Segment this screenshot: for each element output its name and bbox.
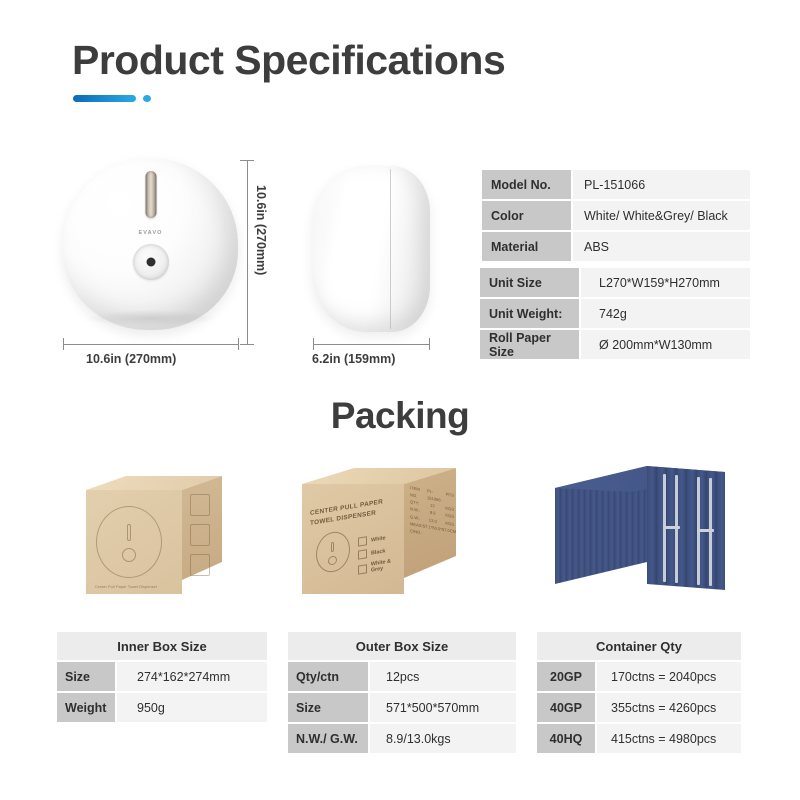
- inner-carton-illustration: Center Pull Paper Towel Dispenser: [86, 472, 228, 600]
- container-body: [555, 466, 725, 584]
- front-width-dim-tick-right: [238, 338, 239, 350]
- row-value-nw-gw: 8.9/13.0kgs: [370, 724, 516, 753]
- table-row: 20GP 170ctns = 2040pcs: [537, 662, 741, 691]
- spec-value-color: White/ White&Grey/ Black: [573, 201, 750, 230]
- front-height-dim-line: [247, 160, 248, 344]
- accent-dot: [143, 95, 151, 102]
- page-title: Product Specifications: [72, 37, 505, 84]
- row-label-size: Size: [57, 662, 115, 691]
- color-option-label: White: [371, 535, 386, 543]
- table-row: Size 274*162*274mm: [57, 662, 267, 691]
- row-label-40hq: 40HQ: [537, 724, 595, 753]
- spec-group-general: Model No. PL-151066 Color White/ White&G…: [482, 170, 750, 261]
- door-lock-bar: [675, 475, 678, 583]
- spec-row-unit-size: Unit Size L270*W159*H270mm: [480, 268, 750, 297]
- side-width-dim-line: [313, 344, 430, 345]
- inner-box-size-header: Inner Box Size: [57, 632, 267, 660]
- outer-carton-illustration: CENTER PULL PAPER TOWEL DISPENSER White …: [302, 460, 460, 600]
- dispenser-slot-icon: [127, 524, 131, 541]
- door-handle-icon: [663, 526, 680, 529]
- carton-symbol-icon-1: [190, 494, 210, 516]
- accent-bar: [73, 95, 136, 102]
- row-value-size: 274*162*274mm: [117, 662, 267, 691]
- front-height-label: 10.6in (270mm): [254, 185, 268, 275]
- inner-box-size-table: Inner Box Size Size 274*162*274mm Weight…: [57, 632, 267, 724]
- carton-symbol-icon-3: [190, 554, 210, 576]
- row-value-qty-per-ctn: 12pcs: [370, 662, 516, 691]
- spec-row-roll-paper-size: Roll Paper Size Ø 200mm*W130mm: [480, 330, 750, 359]
- dispenser-button-icon: [122, 548, 136, 562]
- spec-row-model: Model No. PL-151066: [482, 170, 750, 199]
- front-width-label: 10.6in (270mm): [86, 352, 176, 366]
- carton-symbol-icon-2: [190, 524, 210, 546]
- container-door-panel: [647, 466, 725, 590]
- table-row: 40GP 355ctns = 4260pcs: [537, 693, 741, 722]
- spec-label-roll-paper-size: Roll Paper Size: [480, 330, 579, 359]
- row-label-20gp: 20GP: [537, 662, 595, 691]
- table-row: Qty/ctn 12pcs: [288, 662, 516, 691]
- side-width-dim-tick-right: [429, 338, 430, 350]
- shipping-container-illustration: [543, 452, 741, 610]
- outer-dispenser-slot-icon: [331, 542, 334, 552]
- specification-table: Model No. PL-151066 Color White/ White&G…: [482, 170, 750, 359]
- front-height-dim-tick-top: [240, 160, 254, 161]
- spec-label-unit-size: Unit Size: [480, 268, 579, 297]
- product-side-view: [312, 166, 430, 332]
- side-width-dim-tick-left: [313, 338, 314, 350]
- row-value-size: 571*500*570mm: [370, 693, 516, 722]
- checkbox-icon: [358, 549, 367, 559]
- front-width-dim-tick-left: [63, 338, 64, 350]
- outer-box-size-header: Outer Box Size: [288, 632, 516, 660]
- row-value-weight: 950g: [117, 693, 267, 722]
- spec-row-color: Color White/ White&Grey/ Black: [482, 201, 750, 230]
- dispenser-seam-line: [390, 169, 391, 329]
- spec-row-unit-weight: Unit Weight: 742g: [480, 299, 750, 328]
- color-option-label: White & Grey: [371, 556, 404, 573]
- row-value-40hq: 415ctns = 4980pcs: [597, 724, 741, 753]
- checkbox-icon: [358, 564, 367, 574]
- row-value-20gp: 170ctns = 2040pcs: [597, 662, 741, 691]
- shipping-mark-unit: PCS: [446, 490, 454, 506]
- spec-value-material: ABS: [573, 232, 750, 261]
- row-value-40gp: 355ctns = 4260pcs: [597, 693, 741, 722]
- front-width-dim-line: [63, 344, 239, 345]
- outer-carton-title: CENTER PULL PAPER TOWEL DISPENSER: [310, 495, 398, 529]
- checkbox-icon: [358, 536, 367, 546]
- outer-dispenser-outline-icon: [316, 529, 350, 574]
- shipping-marks-panel: ITEM NO. PL-151066 PCS QTY: 12 KGS N.W.:…: [410, 484, 454, 542]
- spec-label-material: Material: [482, 232, 571, 261]
- inner-carton-front-face: Center Pull Paper Towel Dispenser: [86, 490, 182, 594]
- door-handle-icon: [697, 529, 714, 532]
- inner-carton-caption: Center Pull Paper Towel Dispenser: [95, 585, 157, 589]
- spec-value-roll-paper-size: Ø 200mm*W130mm: [581, 330, 750, 359]
- row-label-size: Size: [288, 693, 368, 722]
- front-shadow: [84, 310, 217, 326]
- table-row: 40HQ 415ctns = 4980pcs: [537, 724, 741, 753]
- row-label-qty-per-ctn: Qty/ctn: [288, 662, 368, 691]
- spec-value-unit-weight: 742g: [581, 299, 750, 328]
- spec-value-unit-size: L270*W159*H270mm: [581, 268, 750, 297]
- container-qty-header: Container Qty: [537, 632, 741, 660]
- outer-box-size-table: Outer Box Size Qty/ctn 12pcs Size 571*50…: [288, 632, 516, 755]
- container-qty-table: Container Qty 20GP 170ctns = 2040pcs 40G…: [537, 632, 741, 755]
- table-row: N.W./ G.W. 8.9/13.0kgs: [288, 724, 516, 753]
- spec-label-model: Model No.: [482, 170, 571, 199]
- table-row: Weight 950g: [57, 693, 267, 722]
- color-option-label: Black: [371, 548, 385, 556]
- brand-label: EVAVO: [139, 230, 163, 236]
- product-front-view: EVAVO: [63, 158, 238, 330]
- front-height-dim-tick-bottom: [240, 344, 254, 345]
- spec-value-model: PL-151066: [573, 170, 750, 199]
- spec-row-material: Material ABS: [482, 232, 750, 261]
- dispenser-button: [133, 244, 169, 280]
- door-lock-bar: [709, 478, 712, 586]
- outer-carton-front-face: CENTER PULL PAPER TOWEL DISPENSER White …: [302, 484, 404, 594]
- row-label-weight: Weight: [57, 693, 115, 722]
- table-row: Size 571*500*570mm: [288, 693, 516, 722]
- side-width-label: 6.2in (159mm): [312, 352, 395, 366]
- color-option-row: White & Grey: [358, 556, 404, 575]
- spec-label-unit-weight: Unit Weight:: [480, 299, 579, 328]
- dispenser-body-side: [312, 166, 430, 332]
- dispenser-outline-icon: [96, 506, 162, 578]
- row-label-nw-gw: N.W./ G.W.: [288, 724, 368, 753]
- packing-title: Packing: [0, 395, 800, 437]
- spec-label-color: Color: [482, 201, 571, 230]
- row-label-40gp: 40GP: [537, 693, 595, 722]
- color-option-checklist: White Black White & Grey: [358, 530, 404, 579]
- spec-group-dimensions: Unit Size L270*W159*H270mm Unit Weight: …: [480, 268, 750, 359]
- paper-slot-icon: [145, 171, 156, 218]
